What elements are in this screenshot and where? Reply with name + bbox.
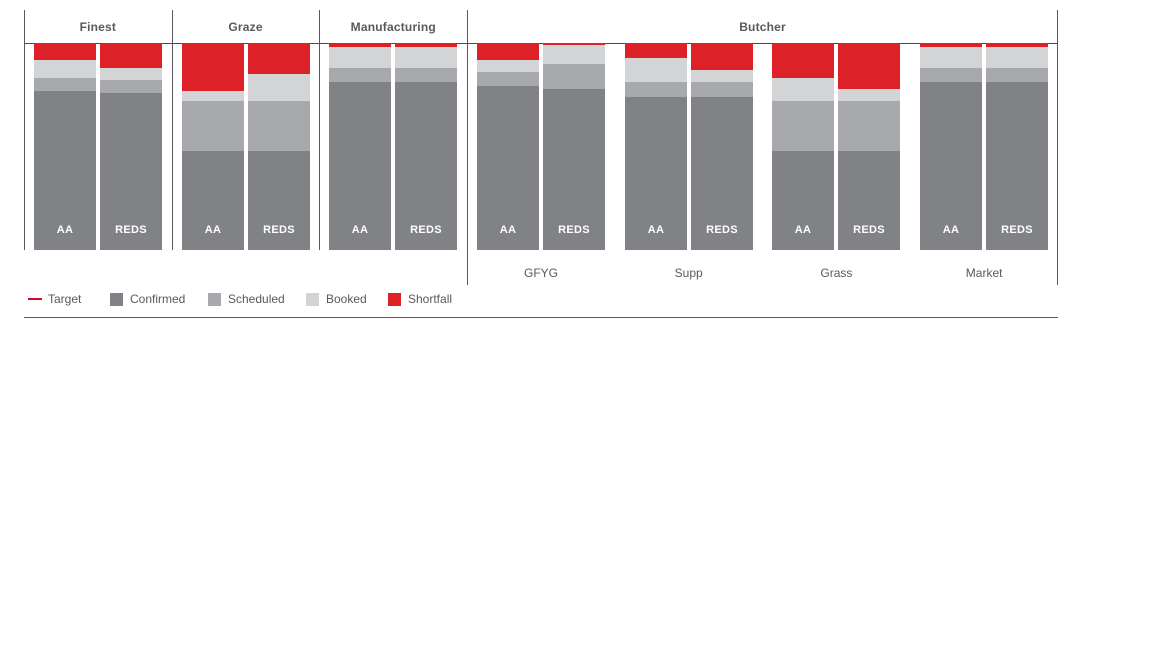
stacked-bar[interactable]: AA xyxy=(920,43,982,250)
bar-segment-booked[interactable] xyxy=(625,58,687,83)
bar-segment-confirmed[interactable] xyxy=(986,82,1048,250)
legend-swatch-icon xyxy=(388,293,401,306)
bar-segment-scheduled[interactable] xyxy=(395,68,457,82)
bar-segment-shortfall[interactable] xyxy=(395,43,457,47)
bar-segment-booked[interactable] xyxy=(100,68,162,80)
bar-segment-scheduled[interactable] xyxy=(543,64,605,89)
stacked-bar[interactable]: AA xyxy=(625,43,687,250)
legend-label: Shortfall xyxy=(408,291,452,307)
bar-segment-scheduled[interactable] xyxy=(986,68,1048,82)
bar-segment-scheduled[interactable] xyxy=(100,80,162,92)
bar-segment-confirmed[interactable] xyxy=(477,86,539,250)
bar-segment-booked[interactable] xyxy=(838,89,900,101)
bar-segment-confirmed[interactable] xyxy=(248,151,310,250)
bar-segment-confirmed[interactable] xyxy=(329,82,391,250)
group-label: Graze xyxy=(172,20,320,34)
bar-segment-booked[interactable] xyxy=(182,91,244,101)
bar-segment-shortfall[interactable] xyxy=(625,43,687,57)
legend-swatch-icon xyxy=(306,293,319,306)
group-label: Manufacturing xyxy=(319,20,467,34)
bar-segment-shortfall[interactable] xyxy=(543,43,605,45)
stacked-bar[interactable]: AA xyxy=(477,43,539,250)
bar-segment-scheduled[interactable] xyxy=(772,101,834,151)
group-separator xyxy=(172,10,173,250)
bar-segment-scheduled[interactable] xyxy=(329,68,391,82)
bar-segment-shortfall[interactable] xyxy=(477,43,539,60)
stacked-bar-chart: FinestGrazeManufacturingButcher AAREDSAA… xyxy=(0,0,1152,648)
bar-segment-booked[interactable] xyxy=(248,74,310,101)
bar-segment-booked[interactable] xyxy=(34,60,96,79)
bar-segment-booked[interactable] xyxy=(772,78,834,101)
bar-segment-shortfall[interactable] xyxy=(34,43,96,60)
bar-segment-booked[interactable] xyxy=(920,47,982,68)
group-separator xyxy=(1057,10,1058,285)
bar-segment-shortfall[interactable] xyxy=(248,43,310,74)
bar-segment-confirmed[interactable] xyxy=(920,82,982,250)
bar-segment-booked[interactable] xyxy=(477,60,539,72)
bar-segment-scheduled[interactable] xyxy=(625,82,687,96)
legend-line-icon xyxy=(28,298,42,300)
stacked-bar[interactable]: REDS xyxy=(838,43,900,250)
bar-segment-shortfall[interactable] xyxy=(772,43,834,78)
group-label: Finest xyxy=(24,20,172,34)
bar-segment-scheduled[interactable] xyxy=(920,68,982,82)
bar-segment-confirmed[interactable] xyxy=(34,91,96,250)
bar-segment-shortfall[interactable] xyxy=(329,43,391,47)
subgroup-label: Supp xyxy=(615,266,763,280)
legend-label: Scheduled xyxy=(228,291,285,307)
group-separator xyxy=(319,10,320,250)
group-separator xyxy=(467,10,468,285)
bar-segment-scheduled[interactable] xyxy=(182,101,244,151)
bar-segment-shortfall[interactable] xyxy=(182,43,244,91)
stacked-bar[interactable]: REDS xyxy=(691,43,753,250)
bar-segment-booked[interactable] xyxy=(691,70,753,82)
bar-segment-confirmed[interactable] xyxy=(691,97,753,250)
bar-segment-scheduled[interactable] xyxy=(691,82,753,96)
bar-segment-confirmed[interactable] xyxy=(395,82,457,250)
legend-label: Confirmed xyxy=(130,291,185,307)
group-label: Butcher xyxy=(467,20,1058,34)
legend-label: Booked xyxy=(326,291,367,307)
bar-segment-shortfall[interactable] xyxy=(100,43,162,68)
bar-segment-shortfall[interactable] xyxy=(838,43,900,89)
bar-segment-shortfall[interactable] xyxy=(691,43,753,70)
stacked-bar[interactable]: REDS xyxy=(986,43,1048,250)
legend-swatch-icon xyxy=(208,293,221,306)
stacked-bar[interactable]: REDS xyxy=(543,43,605,250)
bar-segment-confirmed[interactable] xyxy=(838,151,900,250)
bar-segment-booked[interactable] xyxy=(986,47,1048,68)
bar-segment-scheduled[interactable] xyxy=(34,78,96,90)
bar-segment-booked[interactable] xyxy=(395,47,457,68)
subgroup-label: Grass xyxy=(763,266,911,280)
stacked-bar[interactable]: AA xyxy=(34,43,96,250)
legend-label: Target xyxy=(48,291,81,307)
bar-segment-confirmed[interactable] xyxy=(543,89,605,250)
stacked-bar[interactable]: REDS xyxy=(100,43,162,250)
bar-segment-booked[interactable] xyxy=(543,45,605,64)
bar-segment-scheduled[interactable] xyxy=(248,101,310,151)
legend-swatch-icon xyxy=(110,293,123,306)
stacked-bar[interactable]: AA xyxy=(772,43,834,250)
bar-segment-confirmed[interactable] xyxy=(625,97,687,250)
group-separator xyxy=(24,10,25,250)
bar-segment-shortfall[interactable] xyxy=(986,43,1048,47)
bar-segment-shortfall[interactable] xyxy=(920,43,982,47)
stacked-bar[interactable]: AA xyxy=(182,43,244,250)
bar-segment-scheduled[interactable] xyxy=(838,101,900,151)
bar-segment-booked[interactable] xyxy=(329,47,391,68)
stacked-bar[interactable]: AA xyxy=(329,43,391,250)
bottom-rule xyxy=(24,317,1058,318)
bar-segment-confirmed[interactable] xyxy=(182,151,244,250)
subgroup-label: Market xyxy=(910,266,1058,280)
bar-segment-confirmed[interactable] xyxy=(100,93,162,250)
stacked-bar[interactable]: REDS xyxy=(248,43,310,250)
subgroup-label: GFYG xyxy=(467,266,615,280)
bar-segment-confirmed[interactable] xyxy=(772,151,834,250)
stacked-bar[interactable]: REDS xyxy=(395,43,457,250)
bar-segment-scheduled[interactable] xyxy=(477,72,539,86)
plot-area: FinestGrazeManufacturingButcher AAREDSAA… xyxy=(24,10,1058,250)
